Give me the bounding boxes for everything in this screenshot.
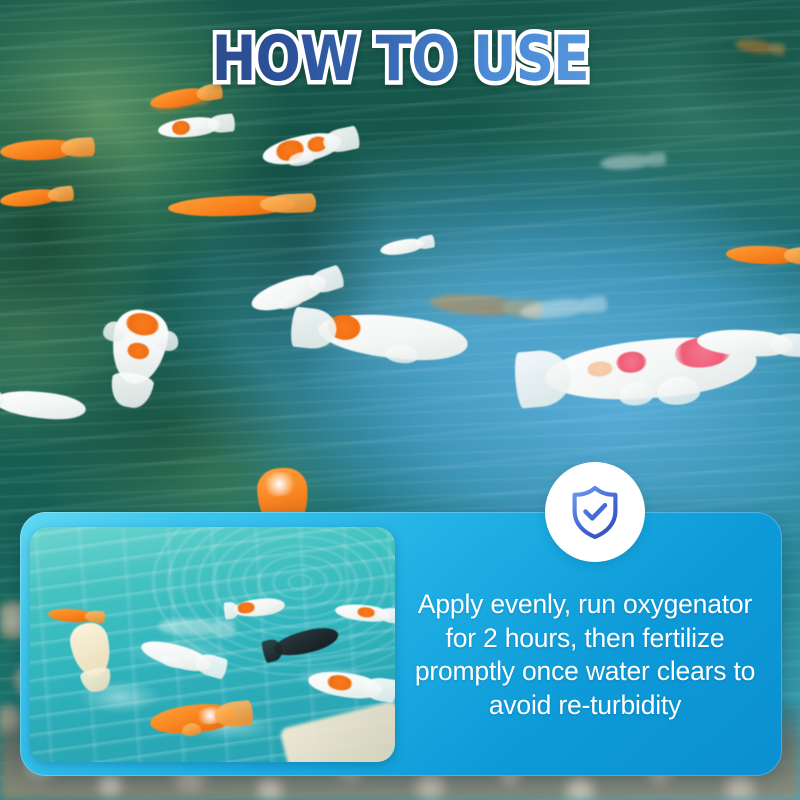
poster-root: HOW TO USE HOW TO USE [0,0,800,800]
inset-fish-ghost [158,618,221,637]
instruction-text: Apply evenly, run oxygenator for 2 hours… [388,588,782,722]
fish-orange-right-lower [726,245,800,266]
shield-check-icon [545,462,645,562]
fish-white-right-upper [696,328,793,359]
inset-photo [30,527,395,762]
instruction-line-2: for 2 hours, then fertilize [388,622,782,656]
page-title: HOW TO USE [0,28,800,90]
instruction-line-1: Apply evenly, run oxygenator [388,588,782,622]
instruction-line-3: promptly once water clears to [388,655,782,689]
page-title-text: HOW TO USE [211,28,588,90]
fish-orange-left-upper [0,138,78,162]
instruction-line-4: avoid re-turbidity [388,689,782,723]
